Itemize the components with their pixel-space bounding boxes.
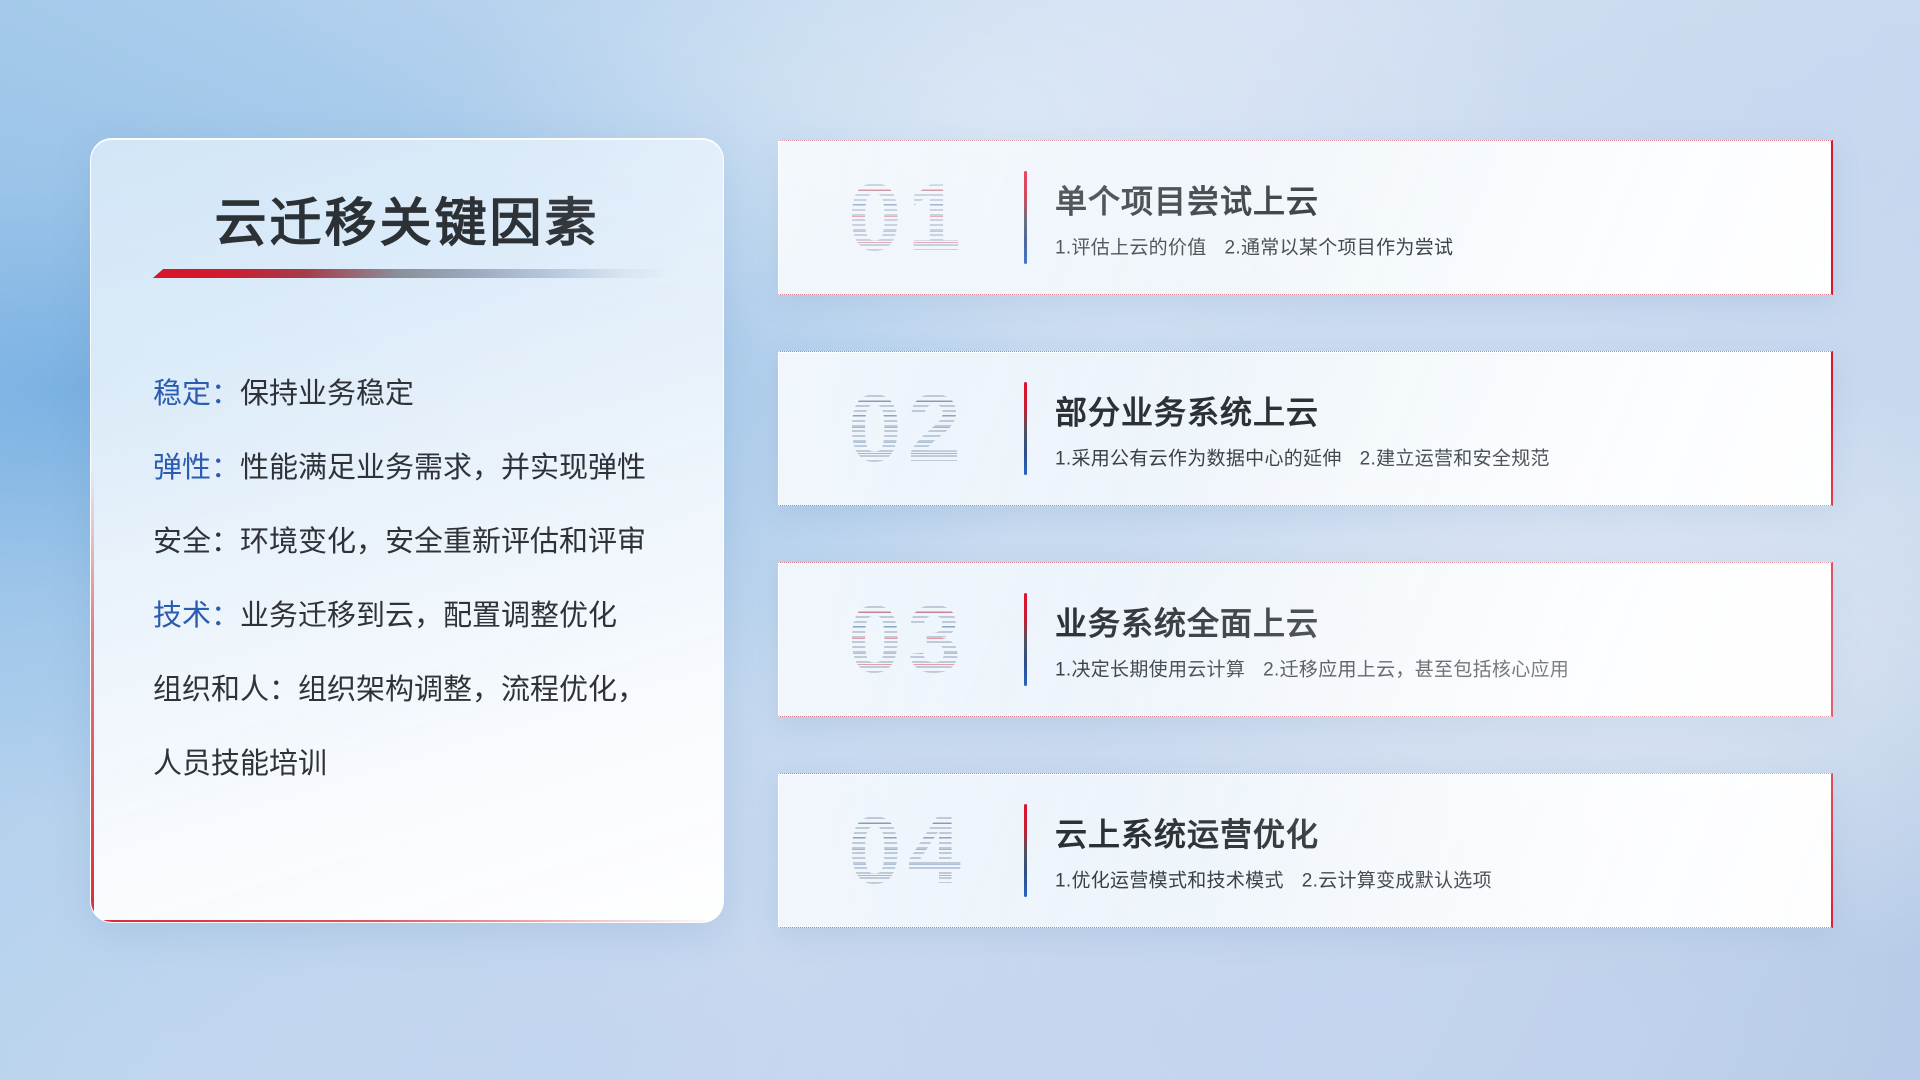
stage-description: 1.决定长期使用云计算2.迁移应用上云，甚至包括核心应用 (1055, 654, 1807, 681)
stage-card-body: 云上系统运营优化 1.优化运营模式和技术模式2.云计算变成默认选项 (1055, 809, 1807, 892)
stage-description: 1.采用公有云作为数据中心的延伸2.建立运营和安全规范 (1055, 443, 1807, 470)
stage-number-glitch-overlay: 02 (805, 375, 1010, 483)
panel-title-underline (153, 269, 663, 278)
stage-description: 1.优化运营模式和技术模式2.云计算变成默认选项 (1055, 865, 1807, 892)
stage-title: 单个项目尝试上云 (1055, 176, 1807, 222)
factor-label: 技术： (153, 600, 240, 632)
factor-value: 性能满足业务需求，并实现弹性 (240, 452, 646, 484)
stage-divider-bar (1024, 593, 1027, 686)
stage-divider-bar (1024, 804, 1027, 897)
panel-title: 云迁移关键因素 (91, 181, 723, 256)
list-item: 技术：业务迁移到云，配置调整优化 (153, 579, 685, 653)
stage-number: 02 (805, 375, 1010, 483)
stage-title: 部分业务系统上云 (1055, 387, 1807, 433)
stage-point-1: 1.优化运营模式和技术模式 (1055, 870, 1284, 891)
stage-number: 01 (805, 164, 1010, 272)
stage-point-1: 1.评估上云的价值 (1055, 237, 1207, 258)
stage-card-body: 部分业务系统上云 1.采用公有云作为数据中心的延伸2.建立运营和安全规范 (1055, 387, 1807, 470)
stage-point-1: 1.采用公有云作为数据中心的延伸 (1055, 448, 1342, 469)
stage-card-01[interactable]: 01 01 单个项目尝试上云 1.评估上云的价值2.通常以某个项目作为尝试 (778, 140, 1833, 295)
stage-number-glitch-overlay: 04 (805, 797, 1010, 905)
factor-label: 弹性： (153, 452, 240, 484)
stage-point-2: 2.云计算变成默认选项 (1302, 870, 1492, 891)
stage-number: 03 (805, 586, 1010, 694)
stage-point-2: 2.迁移应用上云，甚至包括核心应用 (1263, 659, 1569, 680)
stage-card-02[interactable]: 02 02 部分业务系统上云 1.采用公有云作为数据中心的延伸2.建立运营和安全… (778, 351, 1833, 506)
factor-value: 业务迁移到云，配置调整优化 (240, 600, 617, 632)
stage-card-04[interactable]: 04 04 云上系统运营优化 1.优化运营模式和技术模式2.云计算变成默认选项 (778, 773, 1833, 928)
factor-value: 人员技能培训 (153, 748, 327, 780)
stage-point-2: 2.建立运营和安全规范 (1360, 448, 1550, 469)
stage-point-1: 1.决定长期使用云计算 (1055, 659, 1245, 680)
stage-divider-bar (1024, 171, 1027, 264)
stage-number: 04 (805, 797, 1010, 905)
slide-canvas: 云迁移关键因素 稳定：保持业务稳定 弹性：性能满足业务需求，并实现弹性 安全：环… (0, 0, 1920, 1080)
list-item-continuation: 人员技能培训 (153, 727, 685, 801)
stage-card-03[interactable]: 03 03 业务系统全面上云 1.决定长期使用云计算2.迁移应用上云，甚至包括核… (778, 562, 1833, 717)
stage-number-glitch-overlay: 03 (805, 586, 1010, 694)
stage-title: 业务系统全面上云 (1055, 598, 1807, 644)
stage-number-glitch-overlay: 01 (805, 164, 1010, 272)
list-item: 安全：环境变化，安全重新评估和评审 (153, 505, 685, 579)
factor-label: 安全： (153, 526, 240, 558)
factor-value: 环境变化，安全重新评估和评审 (240, 526, 646, 558)
key-factors-list: 稳定：保持业务稳定 弹性：性能满足业务需求，并实现弹性 安全：环境变化，安全重新… (153, 357, 685, 801)
stage-title: 云上系统运营优化 (1055, 809, 1807, 855)
stage-description: 1.评估上云的价值2.通常以某个项目作为尝试 (1055, 232, 1807, 259)
factor-label: 稳定： (153, 378, 240, 410)
factor-label: 组织和人： (153, 674, 298, 706)
factor-value: 组织架构调整，流程优化， (298, 674, 646, 706)
stage-card-body: 单个项目尝试上云 1.评估上云的价值2.通常以某个项目作为尝试 (1055, 176, 1807, 259)
stage-card-body: 业务系统全面上云 1.决定长期使用云计算2.迁移应用上云，甚至包括核心应用 (1055, 598, 1807, 681)
list-item: 组织和人：组织架构调整，流程优化， (153, 653, 685, 727)
stage-point-2: 2.通常以某个项目作为尝试 (1225, 237, 1454, 258)
list-item: 弹性：性能满足业务需求，并实现弹性 (153, 431, 685, 505)
list-item: 稳定：保持业务稳定 (153, 357, 685, 431)
stage-divider-bar (1024, 382, 1027, 475)
factor-value: 保持业务稳定 (240, 378, 414, 410)
key-factors-panel: 云迁移关键因素 稳定：保持业务稳定 弹性：性能满足业务需求，并实现弹性 安全：环… (90, 138, 724, 923)
panel-accent-left-bar (91, 469, 94, 922)
panel-accent-bottom-bar (91, 920, 723, 923)
